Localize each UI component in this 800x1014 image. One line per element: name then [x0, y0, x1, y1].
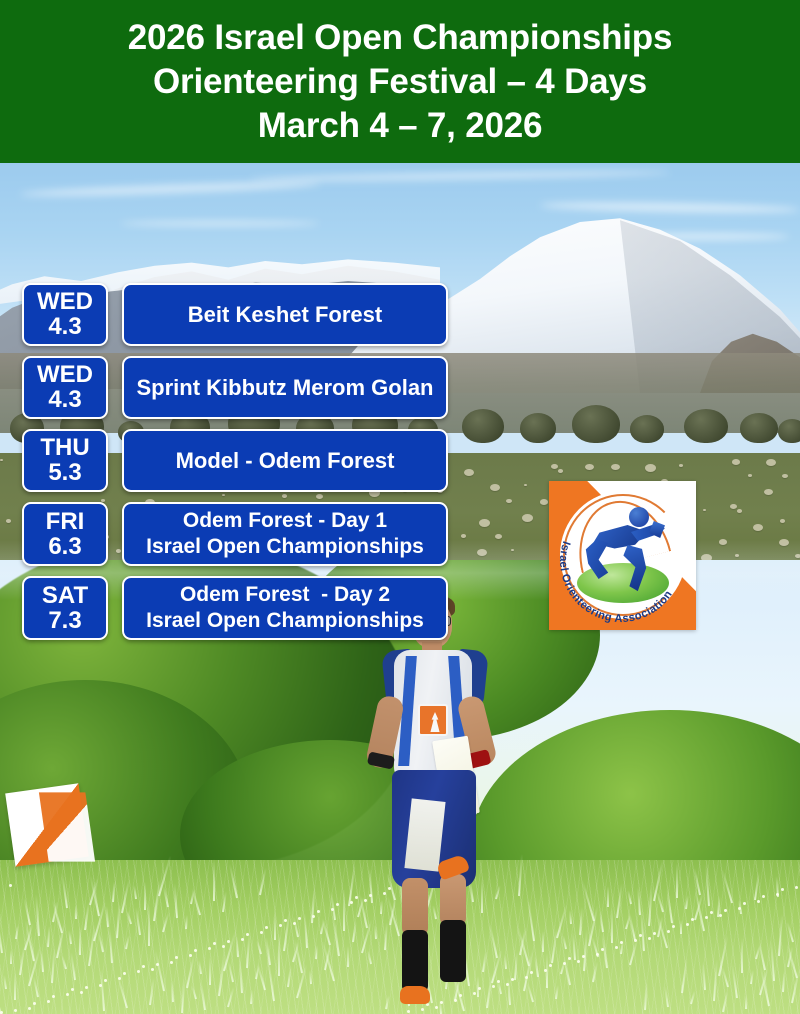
meadow-flower [355, 896, 358, 899]
header-title-line-3: March 4 – 7, 2026 [258, 104, 543, 148]
grass-blade [741, 938, 743, 973]
shrub [520, 413, 556, 443]
meadow-flower [563, 962, 566, 965]
meadow-flower [667, 930, 670, 933]
stone [766, 459, 776, 466]
meadow-flower [33, 1002, 36, 1005]
grass-blade [278, 934, 280, 976]
shrub [740, 413, 778, 443]
stone [645, 464, 656, 472]
schedule-event-box: Odem Forest - Day 1Israel Open Champions… [122, 502, 448, 566]
meadow-flower [312, 915, 315, 918]
stone [679, 464, 683, 467]
stone [780, 519, 785, 523]
meadow-flower [80, 991, 83, 994]
meadow-flower [672, 925, 675, 928]
meadow-flower [653, 932, 656, 935]
meadow-flower [648, 937, 651, 940]
stone [779, 539, 789, 546]
meadow-flower [795, 886, 798, 889]
meadow-flower [222, 945, 225, 948]
orienteering-runner [360, 578, 510, 998]
stone [753, 524, 763, 531]
schedule-row: THU5.3Model - Odem Forest [22, 429, 448, 492]
meadow-flower [298, 917, 301, 920]
logo-curved-text: Israel Orienteering Association [549, 481, 696, 630]
grass-blade [144, 882, 146, 910]
meadow-flower [14, 1009, 17, 1012]
schedule-row: FRI6.3Odem Forest - Day 1Israel Open Cha… [22, 502, 448, 566]
meadow-flower [705, 916, 708, 919]
schedule-date-box: WED4.3 [22, 356, 108, 419]
runner-leg-left [402, 878, 428, 936]
schedule-event-line: Israel Open Championships [146, 534, 424, 560]
grass-blade [10, 950, 12, 964]
grass-blade [209, 957, 211, 985]
meadow-flower [634, 939, 637, 942]
schedule-event-line: Beit Keshet Forest [188, 302, 382, 328]
meadow-flower [776, 893, 779, 896]
meadow-flower [710, 911, 713, 914]
meadow-flower [762, 895, 765, 898]
runner-leg-right [440, 874, 466, 926]
meadow-flower [317, 910, 320, 913]
meadow-flower [454, 999, 457, 1002]
meadow-flower [279, 924, 282, 927]
grass-blade [79, 927, 81, 955]
schedule-day-of-week: WED [37, 289, 93, 314]
meadow-flower [686, 923, 689, 926]
stone [748, 474, 752, 477]
schedule-event-line: Odem Forest - Day 2 [180, 582, 390, 608]
schedule-row: SAT7.3Odem Forest - Day 2Israel Open Cha… [22, 576, 448, 640]
stone [511, 549, 514, 551]
meadow-flower [293, 922, 296, 925]
stone [735, 554, 739, 557]
meadow-flower [511, 978, 514, 981]
meadow-flower [175, 956, 178, 959]
meadow-flower [331, 908, 334, 911]
grass-blade [213, 859, 215, 901]
schedule-event-box: Model - Odem Forest [122, 429, 448, 492]
schedule-date-box: THU5.3 [22, 429, 108, 492]
header-title-line-2: Orienteering Festival – 4 Days [153, 60, 647, 104]
meadow-flower [208, 947, 211, 950]
meadow-flower [530, 971, 533, 974]
meadow-flower [170, 961, 173, 964]
stone [6, 519, 11, 523]
stone [795, 554, 800, 558]
meadow-flower [596, 953, 599, 956]
schedule-day-of-week: SAT [42, 583, 88, 608]
meadow-flower [9, 884, 12, 887]
poster-header: 2026 Israel Open Championships Orienteer… [0, 0, 800, 163]
stone [477, 549, 487, 556]
schedule-date-box: FRI6.3 [22, 502, 108, 566]
stone [506, 499, 512, 503]
schedule-date: 6.3 [48, 534, 81, 560]
stone [0, 459, 3, 461]
meadow-flower [137, 970, 140, 973]
meadow-flower [336, 903, 339, 906]
stone [524, 484, 527, 486]
stone [764, 489, 773, 495]
meadow-flower [407, 1010, 410, 1013]
schedule-date: 7.3 [48, 608, 81, 634]
stone [703, 509, 706, 511]
control-flag-side [39, 792, 95, 861]
meadow-flower [118, 977, 121, 980]
schedule-day-of-week: WED [37, 362, 93, 387]
schedule-event-box: Sprint Kibbutz Merom Golan [122, 356, 448, 419]
meadow-flower [52, 995, 55, 998]
stone [490, 484, 500, 491]
shrub [462, 409, 504, 443]
stone [464, 469, 474, 476]
schedule-event-line: Israel Open Championships [146, 608, 424, 634]
grass-blade [148, 904, 150, 946]
stone [551, 464, 558, 469]
grass-blade [75, 905, 77, 919]
meadow-flower [639, 934, 642, 937]
meadow-flower [743, 902, 746, 905]
stone [522, 514, 533, 522]
header-title-line-1: 2026 Israel Open Championships [128, 16, 672, 60]
meadow-flower [691, 918, 694, 921]
stone [782, 474, 788, 478]
schedule-date: 5.3 [48, 460, 81, 486]
runner-sock-right [440, 920, 466, 982]
grass-blade [343, 889, 345, 931]
stone [585, 464, 594, 470]
logo-text-path: Israel Orienteering Association [557, 540, 675, 626]
stone [732, 459, 740, 465]
stone [558, 469, 563, 473]
meadow-flower [615, 946, 618, 949]
meadow-flower [440, 1001, 443, 1004]
shrub [572, 405, 620, 443]
shrub [778, 419, 800, 443]
grass-blade [14, 972, 16, 1000]
grass-blade [745, 995, 747, 1009]
runner-shoe-left [400, 986, 430, 1004]
meadow-flower [227, 940, 230, 943]
schedule-date-box: WED4.3 [22, 283, 108, 346]
meadow-flower [620, 941, 623, 944]
map-lower-part [404, 798, 445, 871]
meadow-flower [738, 907, 741, 910]
meadow-flower [601, 948, 604, 951]
schedule-event-line: Odem Forest - Day 1 [183, 508, 387, 534]
meadow-flower [719, 914, 722, 917]
grass-blade [347, 946, 349, 967]
israel-orienteering-association-logo: Israel Orienteering Association [549, 481, 696, 630]
orienteering-control-flag [10, 788, 84, 862]
meadow-flower [189, 954, 192, 957]
meadow-flower [123, 972, 126, 975]
meadow-flower [265, 926, 268, 929]
schedule-row: WED4.3Beit Keshet Forest [22, 283, 448, 346]
stone [461, 534, 466, 538]
schedule-date: 4.3 [48, 314, 81, 340]
meadow-flower [582, 955, 585, 958]
meadow-flower [284, 919, 287, 922]
meadow-flower [421, 1008, 424, 1011]
grass-blade [274, 912, 276, 940]
meadow-flower [544, 969, 547, 972]
grass-blade [680, 920, 682, 934]
stone [611, 464, 620, 470]
stone [495, 534, 502, 539]
stone [730, 504, 737, 509]
meadow-flower [568, 957, 571, 960]
meadow-flower [577, 960, 580, 963]
meadow-flower [104, 979, 107, 982]
stone [737, 509, 742, 513]
meadow-flower [435, 1006, 438, 1009]
meadow-flower [246, 933, 249, 936]
runner-sock-left [402, 930, 428, 992]
meadow-flower [151, 968, 154, 971]
event-schedule: WED4.3Beit Keshet ForestWED4.3Sprint Kib… [22, 283, 448, 640]
schedule-event-line: Sprint Kibbutz Merom Golan [137, 375, 434, 401]
grass-blade [611, 908, 613, 943]
schedule-date-box: SAT7.3 [22, 576, 108, 640]
meadow-flower [28, 1007, 31, 1010]
meadow-flower [99, 984, 102, 987]
schedule-day-of-week: FRI [46, 509, 85, 534]
grass-blade [607, 886, 609, 907]
meadow-flower [47, 1000, 50, 1003]
meadow-flower [525, 976, 528, 979]
schedule-row: WED4.3Sprint Kibbutz Merom Golan [22, 356, 448, 419]
meadow-flower [260, 931, 263, 934]
stone [719, 539, 727, 545]
meadow-flower [549, 964, 552, 967]
event-poster: 2026 Israel Open Championships Orienteer… [0, 0, 800, 1014]
stone [540, 499, 548, 505]
stone [479, 519, 490, 527]
meadow-flower [781, 888, 784, 891]
meadow-flower [156, 963, 159, 966]
shrub [630, 415, 664, 443]
cloud-wisp [120, 221, 320, 226]
meadow-flower [724, 909, 727, 912]
jersey-emblem [418, 704, 448, 736]
meadow-flower [757, 900, 760, 903]
schedule-event-box: Beit Keshet Forest [122, 283, 448, 346]
schedule-day-of-week: THU [40, 435, 89, 460]
meadow-flower [241, 938, 244, 941]
grass-blade [542, 931, 544, 952]
meadow-flower [350, 901, 353, 904]
meadow-flower [194, 949, 197, 952]
meadow-flower [142, 965, 145, 968]
schedule-event-box: Odem Forest - Day 2Israel Open Champions… [122, 576, 448, 640]
grass-blade [676, 863, 678, 898]
meadow-flower [213, 942, 216, 945]
meadow-flower [85, 986, 88, 989]
schedule-event-line: Model - Odem Forest [176, 448, 395, 474]
meadow-flower [71, 988, 74, 991]
meadow-flower [66, 993, 69, 996]
schedule-date: 4.3 [48, 387, 81, 413]
shrub [684, 409, 728, 443]
